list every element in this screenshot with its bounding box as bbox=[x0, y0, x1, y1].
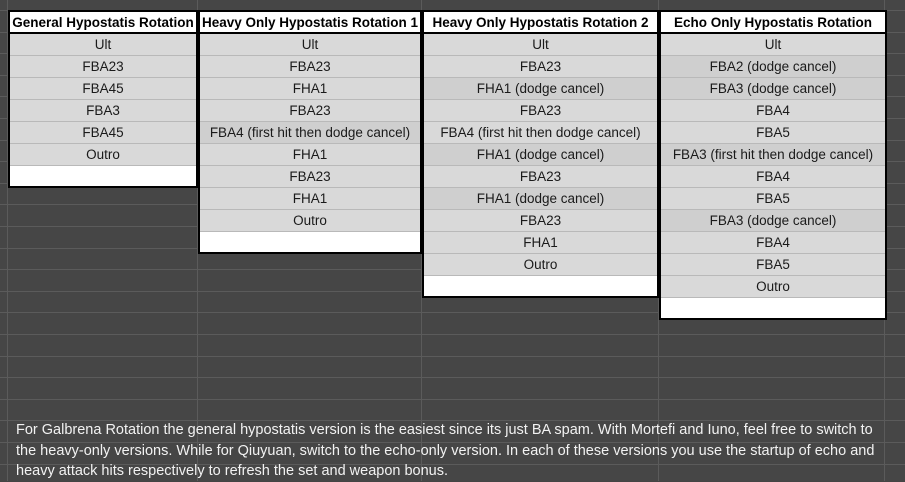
table-cell[interactable]: FBA23 bbox=[10, 56, 196, 78]
table-cell[interactable]: FBA3 bbox=[10, 100, 196, 122]
table-cell[interactable]: FBA4 bbox=[661, 232, 885, 254]
table-cell[interactable]: FHA1 bbox=[200, 144, 420, 166]
table-cell[interactable]: FHA1 bbox=[200, 78, 420, 100]
table-cell[interactable]: FBA45 bbox=[10, 122, 196, 144]
table-cell[interactable]: FBA45 bbox=[10, 78, 196, 100]
table-cell[interactable]: FBA23 bbox=[424, 166, 657, 188]
table-cell[interactable]: Ult bbox=[661, 34, 885, 56]
table-cell[interactable]: FBA5 bbox=[661, 122, 885, 144]
table-cell[interactable]: FBA23 bbox=[200, 166, 420, 188]
table-cell[interactable]: Outro bbox=[661, 276, 885, 298]
rotation-tables: General Hypostatis RotationUltFBA23FBA45… bbox=[8, 10, 887, 320]
table-cell-empty[interactable] bbox=[10, 166, 196, 188]
grid-row-line bbox=[0, 377, 905, 378]
rotation-column-1: General Hypostatis RotationUltFBA23FBA45… bbox=[8, 10, 198, 188]
table-cell[interactable]: FHA1 (dodge cancel) bbox=[424, 78, 657, 100]
table-cell-empty[interactable] bbox=[424, 276, 657, 298]
table-cell[interactable]: Ult bbox=[200, 34, 420, 56]
table-cell[interactable]: FBA23 bbox=[424, 100, 657, 122]
grid-row-line bbox=[0, 356, 905, 357]
table-cell[interactable]: FBA23 bbox=[424, 210, 657, 232]
table-cell[interactable]: FBA5 bbox=[661, 254, 885, 276]
table-cell[interactable]: Outro bbox=[424, 254, 657, 276]
table-cell[interactable]: FBA4 bbox=[661, 100, 885, 122]
table-cell[interactable]: FBA3 (dodge cancel) bbox=[661, 78, 885, 100]
table-cell[interactable]: Outro bbox=[200, 210, 420, 232]
table-cell[interactable]: FBA4 (first hit then dodge cancel) bbox=[200, 122, 420, 144]
table-cell[interactable]: FBA23 bbox=[424, 56, 657, 78]
table-cell[interactable]: FBA5 bbox=[661, 188, 885, 210]
rotation-column-3: Heavy Only Hypostatis Rotation 2UltFBA23… bbox=[422, 10, 659, 298]
table-cell[interactable]: FHA1 (dodge cancel) bbox=[424, 144, 657, 166]
table-cell[interactable]: Outro bbox=[10, 144, 196, 166]
table-cell-empty[interactable] bbox=[661, 298, 885, 320]
table-cell[interactable]: FBA3 (dodge cancel) bbox=[661, 210, 885, 232]
grid-row-line bbox=[0, 334, 905, 335]
table-cell[interactable]: FBA23 bbox=[200, 56, 420, 78]
column-header[interactable]: Echo Only Hypostatis Rotation bbox=[661, 10, 885, 34]
column-header[interactable]: Heavy Only Hypostatis Rotation 2 bbox=[424, 10, 657, 34]
table-cell[interactable]: FBA3 (first hit then dodge cancel) bbox=[661, 144, 885, 166]
table-cell[interactable]: FBA4 (first hit then dodge cancel) bbox=[424, 122, 657, 144]
rotation-column-2: Heavy Only Hypostatis Rotation 1UltFBA23… bbox=[198, 10, 422, 254]
grid-row-line bbox=[0, 399, 905, 400]
column-header[interactable]: Heavy Only Hypostatis Rotation 1 bbox=[200, 10, 420, 34]
table-cell[interactable]: FHA1 bbox=[424, 232, 657, 254]
table-cell[interactable]: FBA2 (dodge cancel) bbox=[661, 56, 885, 78]
table-cell[interactable]: Ult bbox=[424, 34, 657, 56]
table-cell[interactable]: Ult bbox=[10, 34, 196, 56]
table-cell[interactable]: FHA1 (dodge cancel) bbox=[424, 188, 657, 210]
table-cell[interactable]: FBA4 bbox=[661, 166, 885, 188]
table-cell[interactable]: FHA1 bbox=[200, 188, 420, 210]
column-header[interactable]: General Hypostatis Rotation bbox=[10, 10, 196, 34]
footer-note: For Galbrena Rotation the general hypost… bbox=[16, 420, 891, 482]
table-cell[interactable]: FBA23 bbox=[200, 100, 420, 122]
rotation-column-4: Echo Only Hypostatis RotationUltFBA2 (do… bbox=[659, 10, 887, 320]
table-cell-empty[interactable] bbox=[200, 232, 420, 254]
